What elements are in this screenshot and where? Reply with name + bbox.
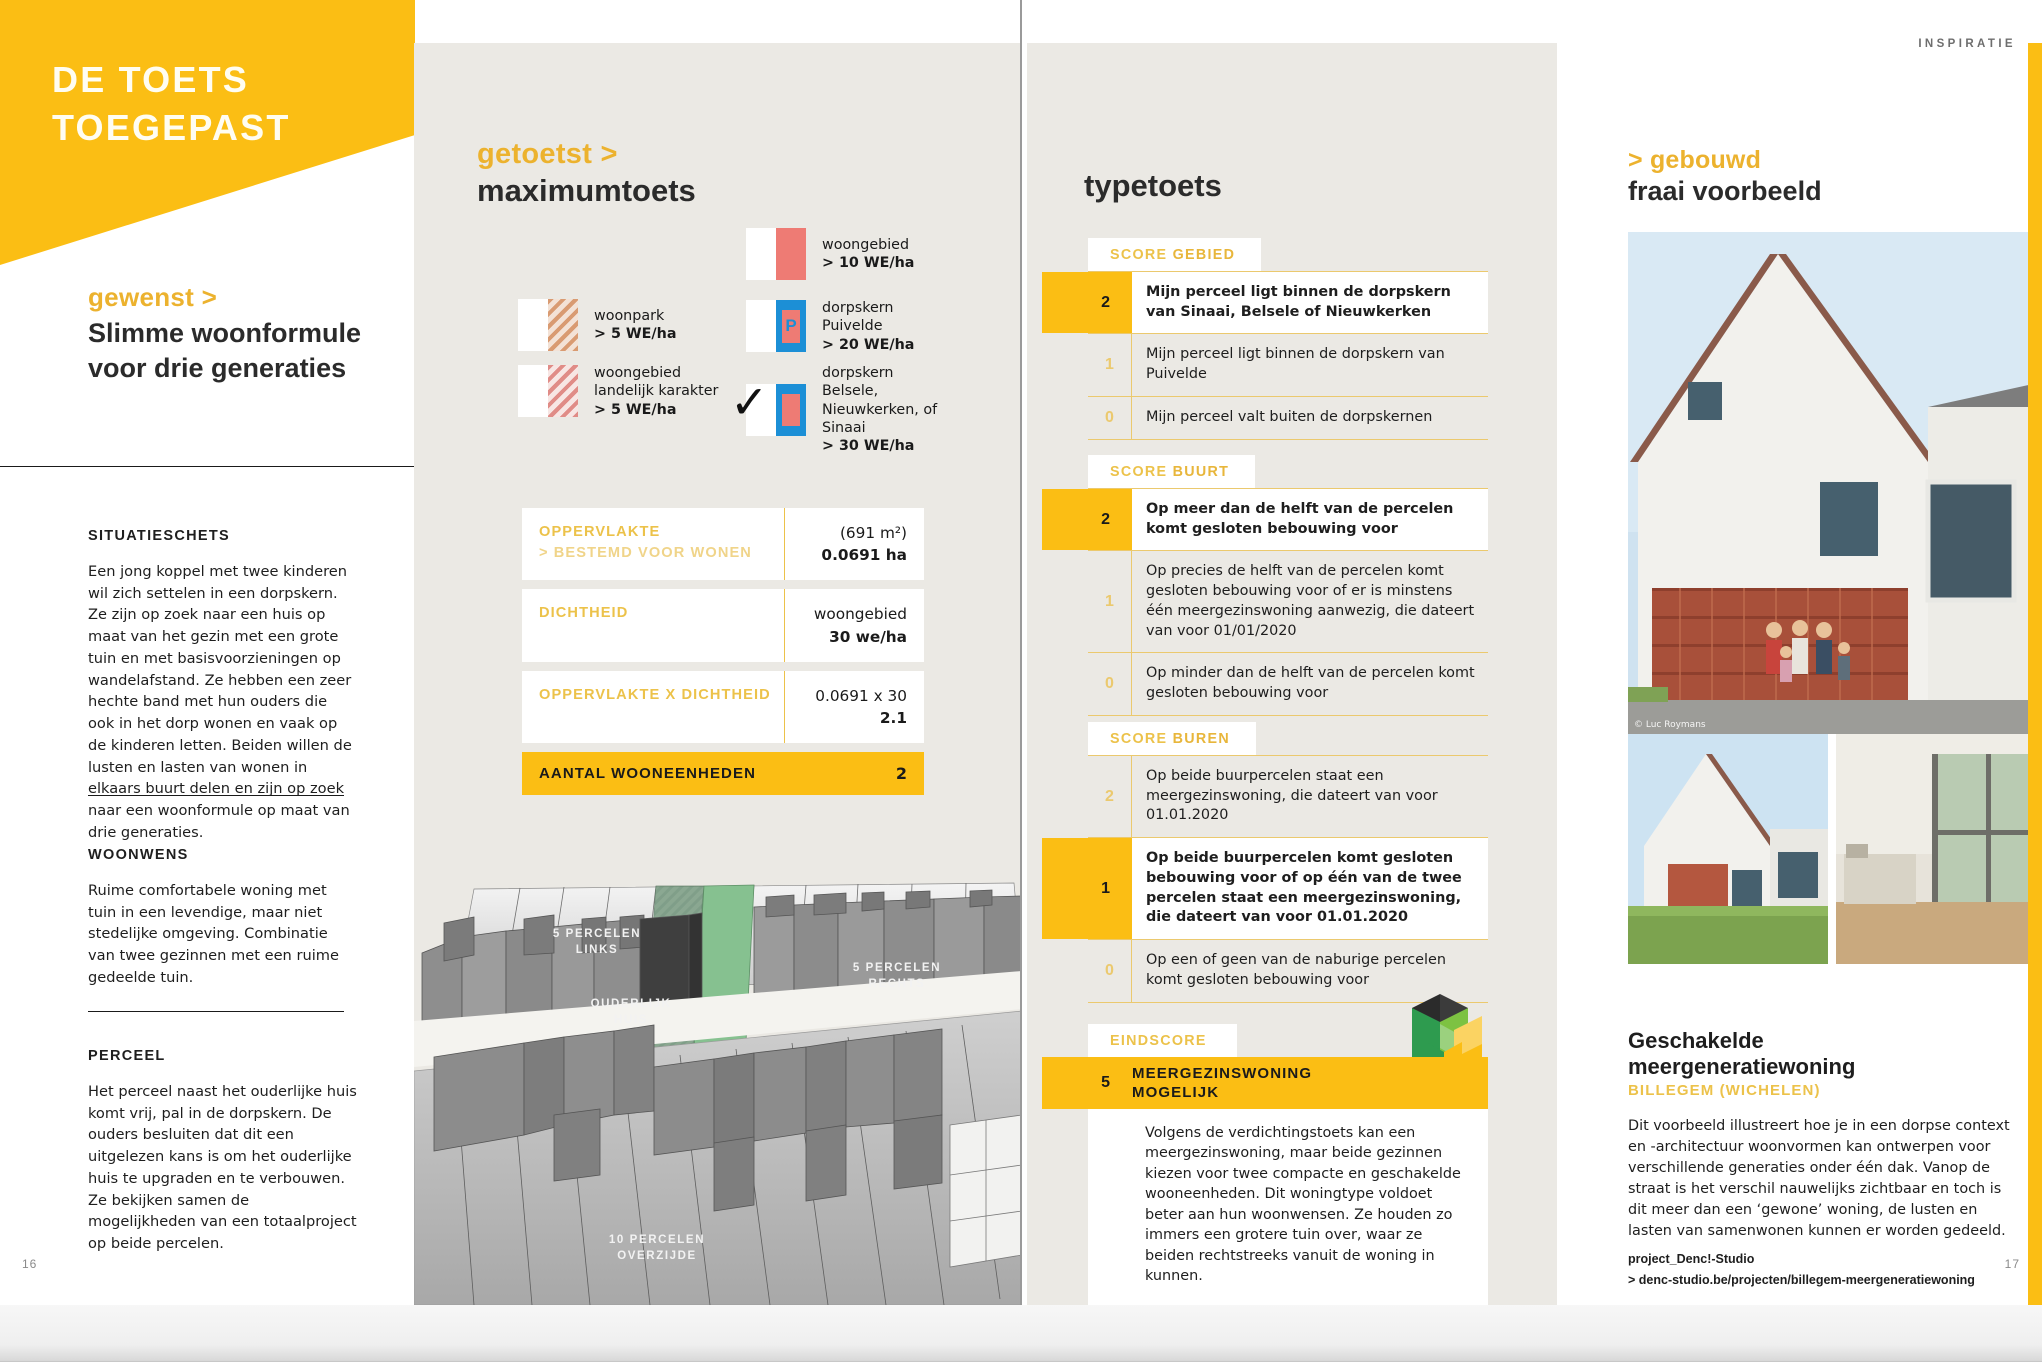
isometric-street-diagram: 5 PERCELEN LINKS 5 PERCELEN RECHTS OUDER…	[414, 875, 1022, 1305]
score-number: 0	[1088, 397, 1132, 439]
maximumtoets-title: maximumtoets	[477, 173, 696, 209]
row-value-top: 0.0691 x 30	[784, 685, 907, 707]
legend-label-line1: dorpskern Belsele,	[822, 364, 938, 401]
section-heading: WOONWENS	[88, 847, 358, 863]
score-number: 1	[1088, 551, 1132, 652]
score-number: 2	[1042, 489, 1132, 550]
score-rows: 2 Op beide buurpercelen staat een meerge…	[1088, 755, 1488, 1003]
photo-credit: © Luc Roymans	[1634, 720, 1706, 730]
chapter-title: DE TOETS TOEGEPAST	[52, 56, 392, 152]
score-row[interactable]: 1 Mijn perceel ligt binnen de dorpskern …	[1088, 333, 1488, 395]
verdict-line2: MOGELIJK	[1132, 1083, 1312, 1102]
score-number: 0	[1088, 940, 1132, 1001]
article-url[interactable]: > denc-studio.be/projecten/billegem-meer…	[1628, 1273, 2022, 1287]
score-tag-name: BUREN	[1173, 731, 1230, 747]
row-label: OPPERVLAKTE > BESTEMD VOOR WONEN	[522, 508, 784, 580]
legend-value-text: > 20 WE/ha	[822, 337, 914, 353]
yellow-page-edge	[2028, 43, 2042, 1305]
main-photo: © Luc Roymans	[1628, 232, 2042, 734]
legend-label-line2: Nieuwkerken, of Sinaai	[822, 401, 938, 438]
score-number: 1	[1042, 838, 1132, 939]
score-number: 2	[1088, 756, 1132, 837]
score-rows: 2 Op meer dan de helft van de percelen k…	[1088, 488, 1488, 716]
eindscore-bar: 5 MEERGEZINSWONING MOGELIJK	[1042, 1057, 1488, 1109]
row-label-main: OPPERVLAKTE X DICHTHEID	[539, 685, 784, 706]
section-woonwens: WOONWENS Ruime comfortabele woning met t…	[88, 847, 358, 989]
gewenst-kicker: gewenst >	[88, 282, 388, 313]
score-tag: SCORE BUREN	[1088, 722, 1256, 755]
eindscore-verdict: MEERGEZINSWONING MOGELIJK	[1132, 1064, 1312, 1102]
score-tag: SCORE BUURT	[1088, 455, 1255, 488]
article-heading-line2: meergeneratiewoning	[1628, 1054, 2022, 1080]
row-value-top: (691 m²)	[784, 522, 907, 544]
eindscore-number: 5	[1042, 1074, 1132, 1092]
score-tag-name: BUURT	[1173, 464, 1230, 480]
table-row: DICHTHEID woongebied 30 we/ha	[522, 589, 924, 661]
legend-label: dorpskern Puivelde > 20 WE/ha	[822, 299, 938, 354]
map-legend: woonpark > 5 WE/ha woongebied landelijk …	[518, 228, 938, 418]
score-row[interactable]: 2 Mijn perceel ligt binnen de dorpskern …	[1088, 271, 1488, 333]
swatch-parking-blue-icon: P	[746, 300, 806, 352]
table-row: OPPERVLAKTE X DICHTHEID 0.0691 x 30 2.1	[522, 671, 924, 743]
row-value: (691 m²) 0.0691 ha	[784, 508, 924, 580]
legend-value-text: > 5 WE/ha	[594, 402, 676, 418]
magazine-spread: DE TOETS TOEGEPAST gewenst > Slimme woon…	[0, 0, 2042, 1362]
divider-3	[88, 1011, 344, 1012]
score-rows: 2 Mijn perceel ligt binnen de dorpskern …	[1088, 271, 1488, 440]
row-label-sub: > BESTEMD VOOR WONEN	[539, 543, 784, 564]
article-paragraph: Dit voorbeeld illustreert hoe je in een …	[1628, 1116, 2022, 1241]
score-block-gebied: SCORE GEBIED 2 Mijn perceel ligt binnen …	[1088, 238, 1488, 440]
eindscore-body: Volgens de verdichtingstoets kan een mee…	[1088, 1109, 1488, 1306]
score-row[interactable]: 2 Op beide buurpercelen staat een meerge…	[1088, 755, 1488, 837]
score-row[interactable]: 1 Op beide buurpercelen komt gesloten be…	[1088, 837, 1488, 939]
maximumtoets-table: OPPERVLAKTE > BESTEMD VOOR WONEN (691 m²…	[522, 508, 924, 795]
section-situatieschets: SITUATIESCHETS Een jong koppel met twee …	[88, 528, 358, 844]
gewenst-block: gewenst > Slimme woonformule voor drie g…	[88, 282, 388, 386]
table-total-row: AANTAL WOONEENHEDEN 2	[522, 752, 924, 795]
article-project: project_Denc!-Studio	[1628, 1252, 2022, 1266]
article-heading-line1: Geschakelde	[1628, 1028, 2022, 1054]
legend-label: woonpark > 5 WE/ha	[594, 307, 676, 344]
column-divider	[784, 589, 785, 661]
gewenst-title: Slimme woonformule voor drie generaties	[88, 316, 388, 386]
score-text: Op meer dan de helft van de percelen kom…	[1132, 489, 1488, 550]
column-divider	[784, 508, 785, 580]
score-block-buren: SCORE BUREN 2 Op beide buurpercelen staa…	[1088, 722, 1488, 1003]
divider-1	[0, 466, 420, 467]
score-text: Op minder dan de helft van de percelen k…	[1132, 653, 1488, 714]
swatch-solid-pink-icon	[746, 228, 806, 280]
legend-item-woongebied-landelijk: woongebied landelijk karakter > 5 WE/ha	[518, 364, 718, 419]
article-header: > gebouwd fraai voorbeeld	[1628, 146, 2022, 207]
score-block-buurt: SCORE BUURT 2 Op meer dan de helft van d…	[1088, 455, 1488, 716]
section-body: Een jong koppel met twee kinderen wil zi…	[88, 561, 358, 844]
score-tag-name: GEBIED	[1173, 247, 1236, 263]
getoetst-kicker: getoetst >	[477, 138, 696, 171]
legend-label: woongebied landelijk karakter > 5 WE/ha	[594, 364, 718, 419]
section-body: Het perceel naast het ouderlijke huis ko…	[88, 1081, 358, 1255]
row-label-main: DICHTHEID	[539, 603, 784, 624]
legend-item-dorpskern-puivelde: P dorpskern Puivelde > 20 WE/ha	[746, 299, 938, 354]
legend-label-text: dorpskern Puivelde	[822, 299, 938, 336]
section-heading: PERCEEL	[88, 1048, 358, 1064]
photo-house-garden	[1628, 734, 1828, 964]
sub-photo-right	[1836, 734, 2042, 964]
legend-item-woonpark: woonpark > 5 WE/ha	[518, 299, 676, 351]
score-number: 1	[1088, 334, 1132, 395]
score-row[interactable]: 0 Op minder dan de helft van de percelen…	[1088, 652, 1488, 715]
page-number-left: 16	[22, 1257, 37, 1271]
score-text: Mijn perceel ligt binnen de dorpskern va…	[1132, 272, 1488, 333]
article-heading: Geschakelde meergeneratiewoning	[1628, 1028, 2022, 1079]
score-text: Mijn perceel ligt binnen de dorpskern va…	[1132, 334, 1488, 395]
chapter-title-line2: TOEGEPAST	[52, 104, 392, 152]
row-value-bottom: 2.1	[880, 709, 907, 727]
section-heading: SITUATIESCHETS	[88, 528, 358, 544]
legend-value-text: > 30 WE/ha	[822, 438, 914, 454]
row-value-bottom: 30 we/ha	[829, 628, 907, 646]
inspiratie-header: INSPIRATIE	[1918, 38, 2016, 50]
row-label-main: OPPERVLAKTE	[539, 522, 784, 543]
score-text: Op precies de helft van de percelen komt…	[1132, 551, 1488, 652]
total-value: 2	[784, 752, 924, 795]
legend-label: woongebied > 10 WE/ha	[822, 236, 914, 273]
article-body-block: Geschakelde meergeneratiewoning BILLEGEM…	[1628, 1028, 2022, 1287]
legend-label-line2: landelijk karakter	[594, 382, 718, 400]
typetoets-title: typetoets	[1084, 168, 1222, 204]
score-number: 2	[1042, 272, 1132, 333]
row-value: woongebied 30 we/ha	[784, 589, 924, 661]
row-label: DICHTHEID	[522, 589, 784, 661]
score-number: 0	[1088, 653, 1132, 714]
row-value: 0.0691 x 30 2.1	[784, 671, 924, 743]
legend-label-line1: woongebied	[594, 364, 718, 382]
gebouwd-kicker: > gebouwd	[1628, 146, 2022, 175]
legend-item-woongebied: woongebied > 10 WE/ha	[746, 228, 914, 280]
score-row[interactable]: 2 Op meer dan de helft van de percelen k…	[1088, 488, 1488, 550]
check-icon: ✓	[730, 379, 769, 425]
section-body: Ruime comfortabele woning met tuin in ee…	[88, 880, 358, 989]
score-tag: SCORE GEBIED	[1088, 238, 1261, 271]
spread-gutter	[1020, 0, 1022, 1305]
verdict-line1: MEERGEZINSWONING	[1132, 1064, 1312, 1083]
section-perceel: PERCEEL Het perceel naast het ouderlijke…	[88, 1048, 358, 1255]
eindscore-tag: EINDSCORE	[1088, 1024, 1237, 1057]
column-divider	[784, 671, 785, 743]
chapter-title-line1: DE TOETS	[52, 56, 392, 104]
row-label: OPPERVLAKTE X DICHTHEID	[522, 671, 784, 743]
score-row[interactable]: 0 Mijn perceel valt buiten de dorpskerne…	[1088, 396, 1488, 440]
score-tag-prefix: SCORE	[1110, 247, 1173, 263]
row-value-top: woongebied	[784, 603, 907, 625]
table-row: OPPERVLAKTE > BESTEMD VOOR WONEN (691 m²…	[522, 508, 924, 580]
page-bottom-shadow	[0, 1305, 2042, 1362]
legend-label: dorpskern Belsele, Nieuwkerken, of Sinaa…	[822, 364, 938, 455]
photo-interior	[1836, 734, 2042, 964]
swatch-parking-blue-selected-icon: ✓	[746, 384, 806, 436]
swatch-hatch-orange-icon	[518, 299, 578, 351]
legend-value-text: > 10 WE/ha	[822, 255, 914, 271]
legend-label-text: woonpark	[594, 307, 676, 325]
score-text: Mijn perceel valt buiten de dorpskernen	[1132, 397, 1488, 439]
score-text: Op beide buurpercelen staat een meergezi…	[1132, 756, 1488, 837]
total-label: AANTAL WOONEENHEDEN	[522, 753, 784, 795]
score-text: Op beide buurpercelen komt gesloten bebo…	[1132, 838, 1488, 939]
score-row[interactable]: 1 Op precies de helft van de percelen ko…	[1088, 550, 1488, 652]
maximumtoets-header: getoetst > maximumtoets	[477, 138, 696, 209]
legend-label-text: woongebied	[822, 236, 914, 254]
legend-item-dorpskern-belsele: ✓ dorpskern Belsele, Nieuwkerken, of Sin…	[746, 364, 938, 455]
article-title: fraai voorbeeld	[1628, 176, 2022, 207]
photo-house-front	[1628, 232, 2042, 734]
eindscore-block: EINDSCORE 5 MEERGEZINSWONING MOGELIJK Vo…	[1088, 1024, 1488, 1306]
isometric-svg	[414, 875, 1022, 1305]
row-value-bottom: 0.0691 ha	[821, 546, 907, 564]
article-location: BILLEGEM (WICHELEN)	[1628, 1082, 2022, 1099]
parking-p-icon: P	[782, 310, 800, 342]
swatch-hatch-pink-icon	[518, 365, 578, 417]
legend-value-text: > 5 WE/ha	[594, 326, 676, 342]
score-tag-prefix: SCORE	[1110, 731, 1173, 747]
score-tag-prefix: SCORE	[1110, 464, 1173, 480]
sub-photo-left	[1628, 734, 1828, 964]
